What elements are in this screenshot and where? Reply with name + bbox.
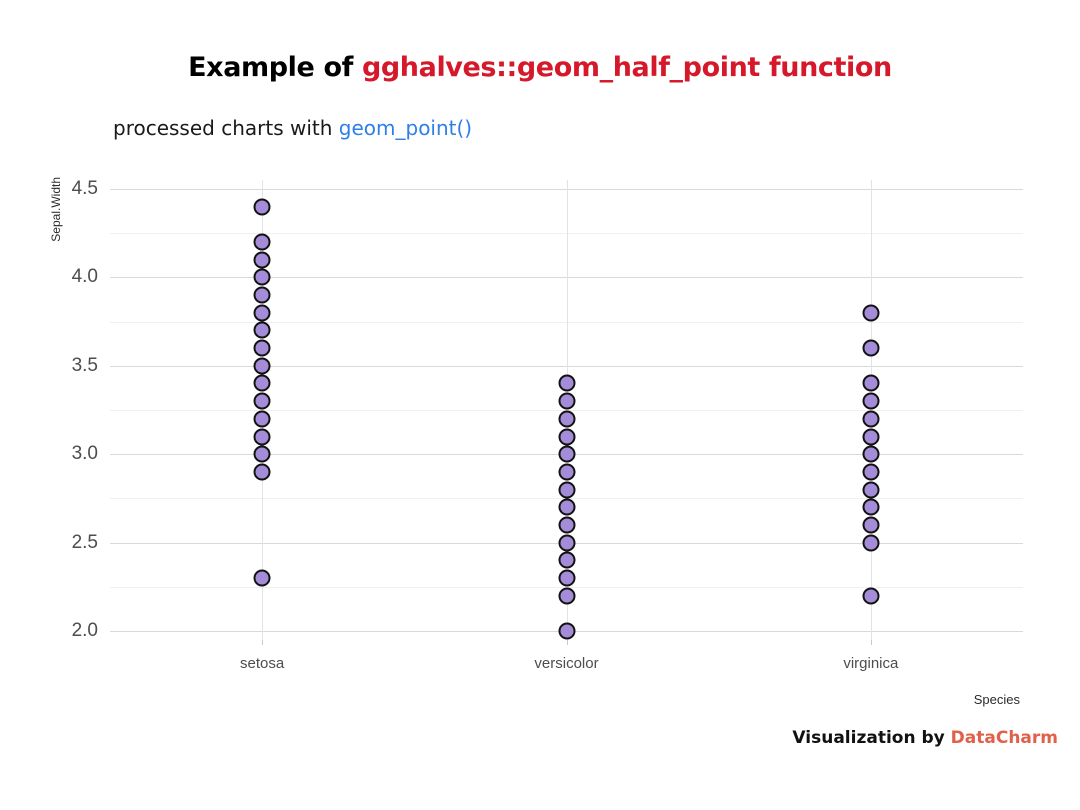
y-tick-label: 3.5 (38, 355, 98, 377)
x-tick-label-versicolor: versicolor (467, 655, 667, 672)
x-tick-label-setosa: setosa (162, 655, 362, 672)
x-tick-mark (567, 640, 568, 645)
y-tick-label: 2.0 (38, 620, 98, 642)
data-point (862, 587, 879, 604)
data-point (862, 463, 879, 480)
data-point (254, 251, 271, 268)
data-point (254, 393, 271, 410)
data-point (558, 393, 575, 410)
data-point (558, 517, 575, 534)
data-point (254, 375, 271, 392)
data-point (558, 481, 575, 498)
data-point (862, 481, 879, 498)
data-point (862, 304, 879, 321)
chart-subtitle: processed charts with geom_point() (113, 116, 813, 140)
data-point (862, 534, 879, 551)
data-point (254, 357, 271, 374)
data-point (254, 428, 271, 445)
data-point (862, 340, 879, 357)
chart-caption: Visualization by DataCharm (792, 728, 1058, 748)
chart-title-accent: gghalves::geom_half_point function (362, 52, 892, 83)
data-point (558, 410, 575, 427)
y-tick-label: 2.5 (38, 532, 98, 554)
data-point (558, 587, 575, 604)
y-tick-label: 3.0 (38, 443, 98, 465)
data-point (862, 499, 879, 516)
y-tick-label: 4.5 (38, 178, 98, 200)
chart-title-plain: Example of (188, 52, 362, 83)
data-point (254, 269, 271, 286)
data-point (254, 463, 271, 480)
data-point (254, 570, 271, 587)
data-point (254, 287, 271, 304)
data-point (558, 499, 575, 516)
chart-subtitle-accent: geom_point() (339, 116, 472, 140)
data-point (558, 428, 575, 445)
y-tick-label: 4.0 (38, 266, 98, 288)
data-point (862, 375, 879, 392)
chart-subtitle-plain: processed charts with (113, 116, 339, 140)
data-point (254, 340, 271, 357)
data-point (558, 534, 575, 551)
data-point (558, 463, 575, 480)
data-point (862, 446, 879, 463)
data-point (558, 570, 575, 587)
data-point (254, 233, 271, 250)
chart-caption-accent: DataCharm (951, 728, 1058, 748)
data-point (254, 322, 271, 339)
plot-panel: 2.02.53.03.54.04.5setosaversicolorvirgin… (110, 180, 1023, 640)
data-point (862, 393, 879, 410)
data-point (558, 375, 575, 392)
data-point (558, 552, 575, 569)
chart-figure: Example of gghalves::geom_half_point fun… (0, 0, 1080, 810)
data-point (862, 428, 879, 445)
chart-title: Example of gghalves::geom_half_point fun… (0, 52, 1080, 83)
x-tick-mark (262, 640, 263, 645)
data-point (254, 304, 271, 321)
x-tick-label-virginica: virginica (771, 655, 971, 672)
data-point (558, 446, 575, 463)
data-point (862, 410, 879, 427)
data-point (254, 446, 271, 463)
data-point (862, 517, 879, 534)
x-axis-title: Species (900, 692, 1020, 707)
x-tick-mark (871, 640, 872, 645)
data-point (254, 198, 271, 215)
chart-caption-plain: Visualization by (792, 728, 950, 748)
data-point (558, 623, 575, 640)
data-point (254, 410, 271, 427)
